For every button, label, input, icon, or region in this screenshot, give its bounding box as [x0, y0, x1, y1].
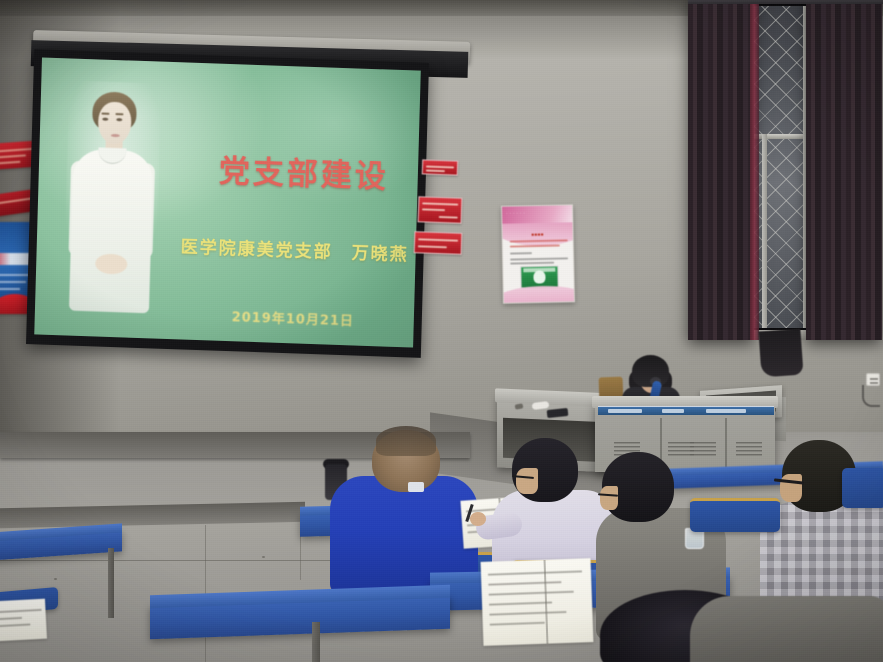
- chair-right-edge: [842, 468, 883, 508]
- slide-canvas: 党支部建设 医学院康美党支部 万晓燕 2019年10月21日: [34, 57, 421, 347]
- attendee-grey-sleeve-torso: [690, 596, 883, 662]
- notice-header-text: · · · · · ·: [506, 210, 525, 215]
- red-placard-top: [422, 159, 459, 175]
- attendee-lavender-hand: [470, 512, 486, 526]
- projector-screen: 党支部建设 医学院康美党支部 万晓燕 2019年10月21日: [26, 49, 429, 358]
- handout-front-center: [481, 558, 594, 646]
- framed-notice: · · · · · · ■■■■: [501, 204, 575, 303]
- green-certificate-icon: [520, 266, 558, 289]
- red-placard-middle: [418, 196, 463, 224]
- window: [688, 0, 878, 348]
- red-placard-bottom: [414, 231, 463, 255]
- outlet-cord: [862, 385, 880, 407]
- curtain-right: [806, 0, 882, 340]
- paper-left-desk: [0, 599, 47, 642]
- desk-front-left2-leg: [312, 622, 320, 662]
- curtain-left-edge: [750, 0, 759, 340]
- classroom-photo: 党支部建设 医学院康美党支部 万晓燕 2019年10月21日 · · · · ·…: [0, 0, 883, 662]
- attendee-blue-polo-badge: [408, 482, 424, 492]
- slide-vignette: [34, 57, 421, 347]
- console-trim-strip: [598, 406, 774, 415]
- curtain-rod: [688, 0, 883, 4]
- chair-mid-right: [690, 498, 780, 532]
- curtain-left: [688, 0, 754, 340]
- hanging-cloth: [758, 329, 803, 378]
- desk-empty-left-leg: [108, 548, 114, 618]
